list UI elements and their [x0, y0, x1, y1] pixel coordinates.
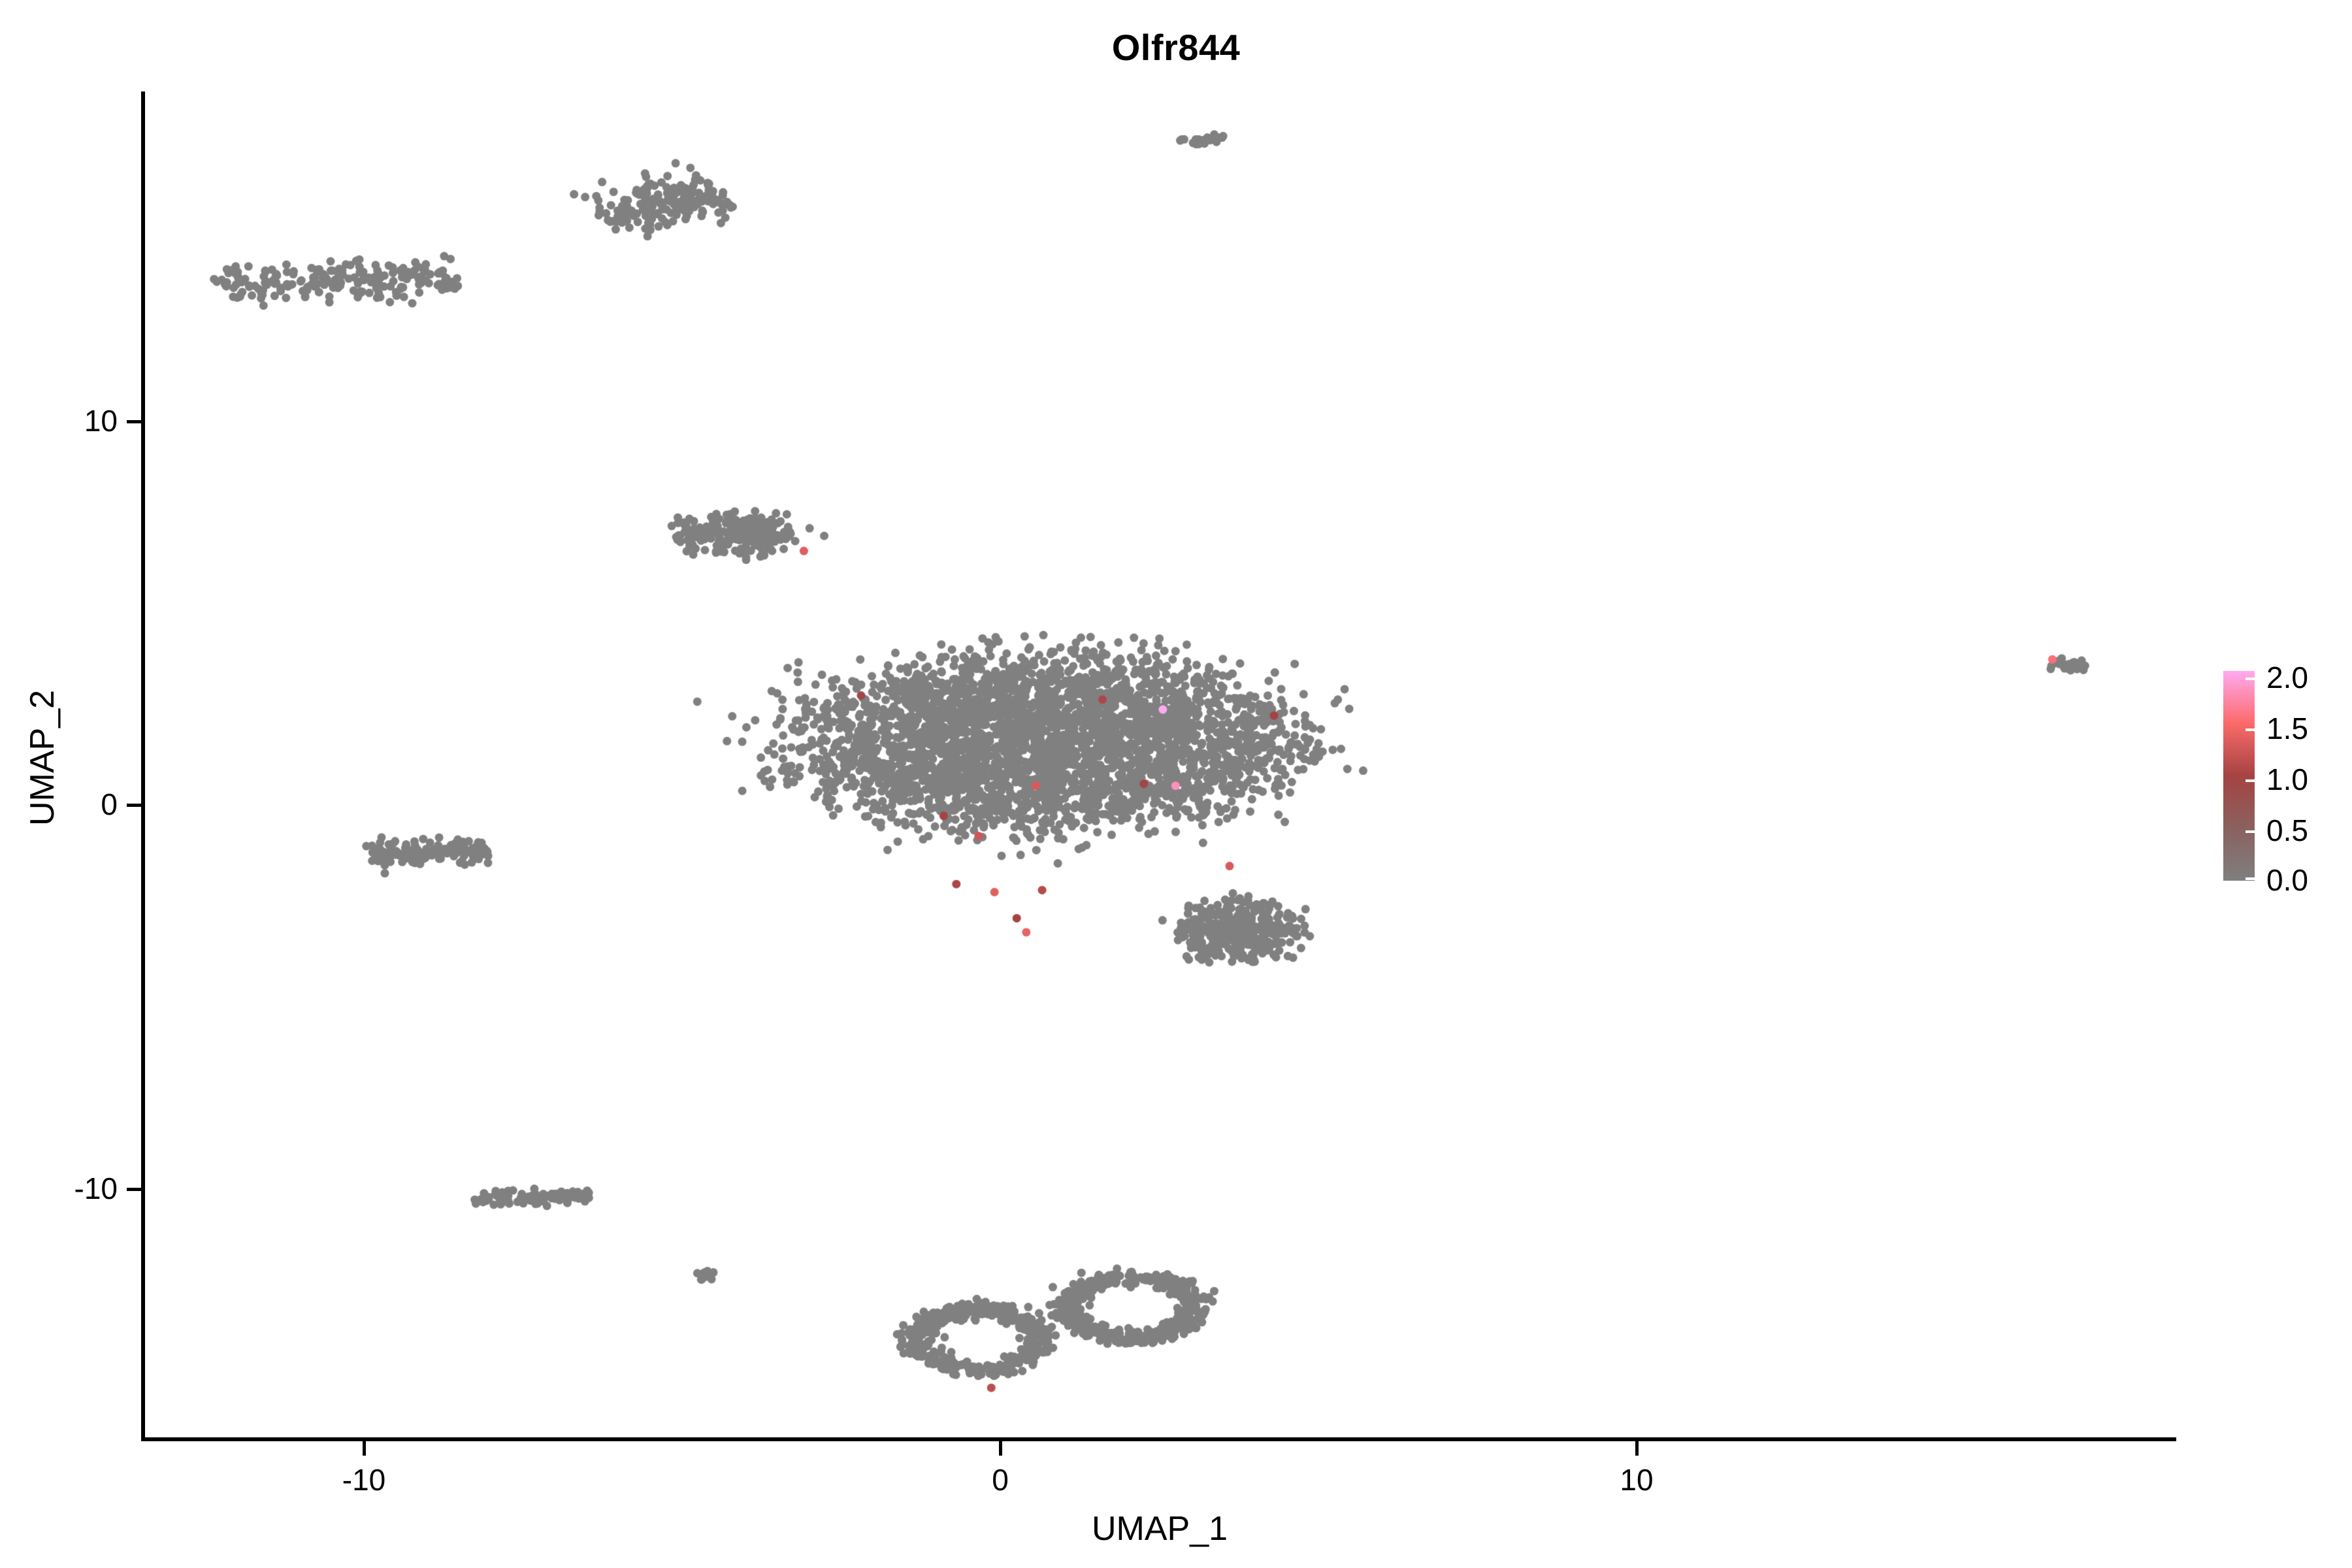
x-tick-label-0: 0: [935, 1462, 1066, 1497]
x-tick-mark-10: [1635, 1441, 1639, 1456]
umap-feature-plot: Olfr844 10 0 -10 -10 0 10 UMAP_1 UMAP_2 …: [0, 0, 2352, 1568]
x-tick-label--10: -10: [299, 1462, 429, 1497]
colorbar-label-0-0: 0.0: [2266, 862, 2345, 898]
y-tick-label-10: 10: [7, 403, 118, 438]
colorbar-tick-2-0: [2246, 678, 2255, 680]
x-axis-title: UMAP_1: [143, 1509, 2176, 1548]
colorbar-label-1-5: 1.5: [2266, 711, 2345, 746]
colorbar-tick-1-5: [2246, 728, 2255, 731]
y-axis-title: UMAP_2: [23, 555, 62, 960]
y-tick-mark-10: [127, 420, 141, 423]
colorbar-legend: 2.0 1.5 1.0 0.5 0.0: [2223, 671, 2347, 881]
colorbar-tick-0-0: [2246, 877, 2255, 880]
colorbar-label-2-0: 2.0: [2266, 660, 2345, 695]
scatter-points-canvas: [143, 91, 2176, 1440]
colorbar-label-1-0: 1.0: [2266, 762, 2345, 797]
colorbar-gradient: [2223, 671, 2255, 881]
x-axis-line: [143, 1437, 2176, 1441]
page-title: Olfr844: [0, 26, 2352, 69]
colorbar-tick-1-0: [2246, 779, 2255, 782]
y-tick-mark--10: [127, 1188, 141, 1191]
colorbar-label-0-5: 0.5: [2266, 813, 2345, 848]
y-tick-mark-0: [127, 804, 141, 807]
x-tick-mark--10: [363, 1441, 366, 1456]
plot-panel: [143, 91, 2176, 1440]
y-tick-label--10: -10: [7, 1171, 118, 1206]
y-axis-line: [141, 91, 145, 1441]
x-tick-label-10: 10: [1571, 1462, 1702, 1497]
x-tick-mark-0: [999, 1441, 1002, 1456]
colorbar-tick-0-5: [2246, 830, 2255, 833]
